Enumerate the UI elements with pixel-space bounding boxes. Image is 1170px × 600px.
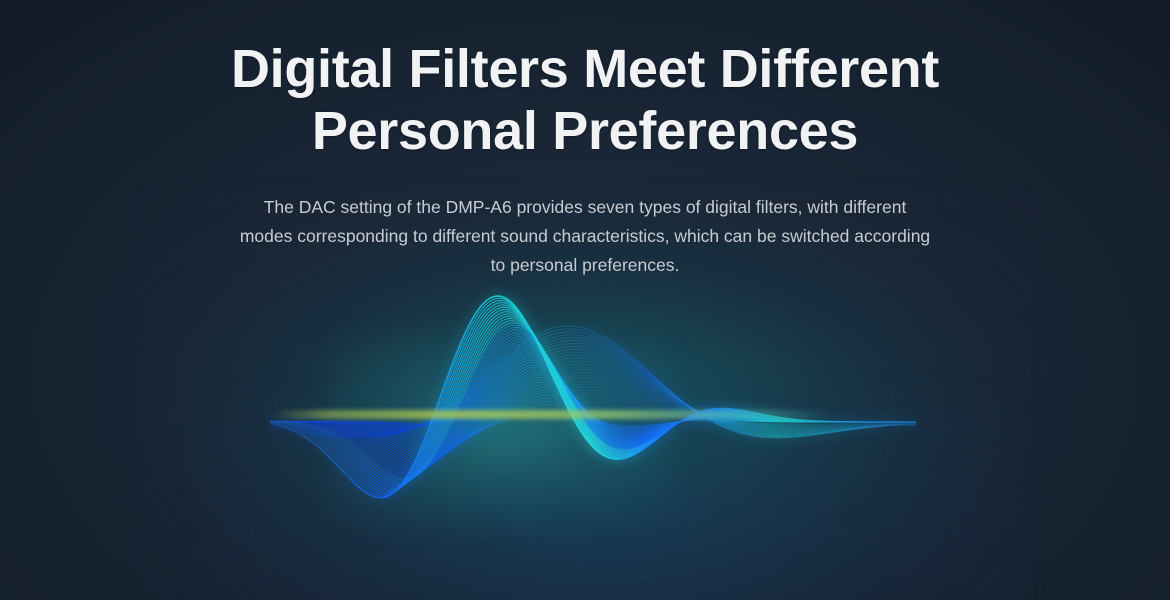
text-content: Digital Filters Meet Different Personal … [0,38,1170,280]
page-title: Digital Filters Meet Different Personal … [0,38,1170,162]
waveform-line [270,321,916,481]
waveform-line [270,305,916,491]
waveform-line [270,318,916,481]
headline-line-2: Personal Preferences [0,100,1170,162]
promo-banner: Digital Filters Meet Different Personal … [0,0,1170,600]
headline-line-1: Digital Filters Meet Different [231,39,939,99]
waveform-line [270,300,916,494]
subtitle-line-2: modes corresponding to different sound c… [190,222,980,251]
waveform-line [270,307,916,490]
waveform-line [270,314,916,485]
subtitle-line-3: to personal preferences. [190,251,980,280]
waveform-line [270,325,916,477]
waveform-line [270,339,916,468]
waveform-line [270,332,916,472]
waveform-line [270,298,916,496]
page-subtitle: The DAC setting of the DMP-A6 provides s… [190,193,980,280]
subtitle-line-1: The DAC setting of the DMP-A6 provides s… [190,193,980,222]
